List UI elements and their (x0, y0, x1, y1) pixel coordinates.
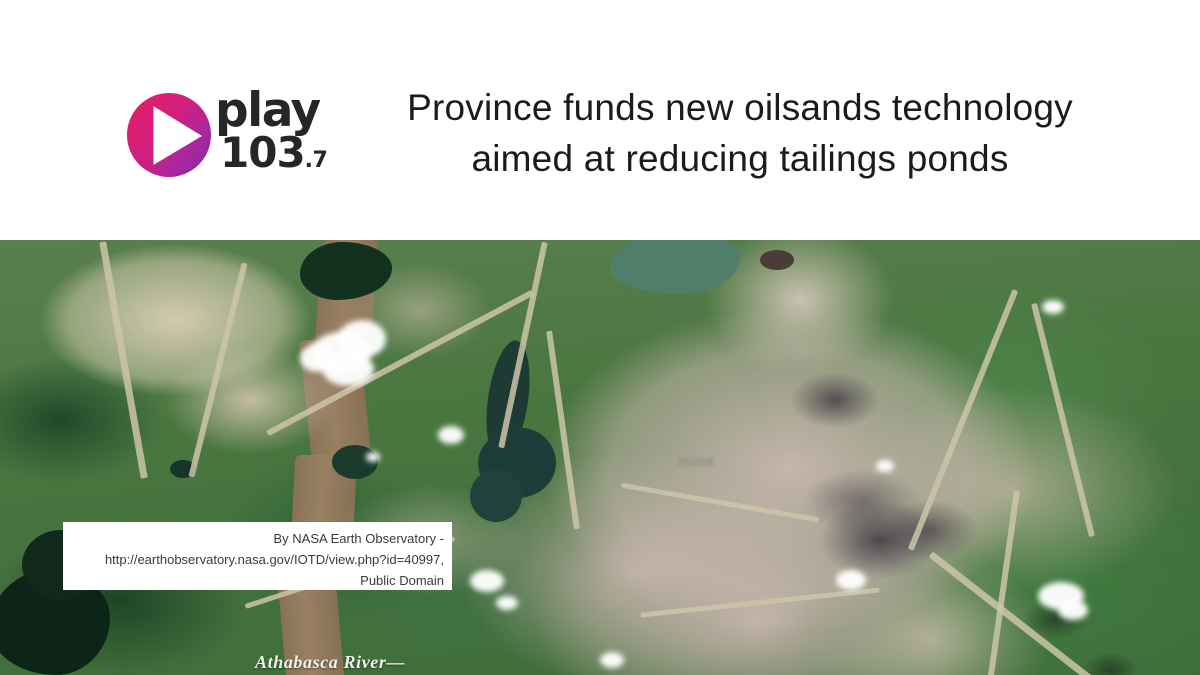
cloud (496, 596, 518, 610)
card-header: play 103.7 Province funds new oilsands t… (0, 0, 1200, 240)
play-circle-icon (125, 91, 213, 179)
cloud (876, 460, 894, 472)
cloud (300, 344, 334, 372)
cloud (1042, 300, 1064, 314)
clouds-layer (0, 240, 1200, 675)
cloud (836, 570, 866, 590)
article-share-card: play 103.7 Province funds new oilsands t… (0, 0, 1200, 675)
caption-line-1: By NASA Earth Observatory - (273, 531, 444, 546)
logo-wordmark: play 103.7 (215, 89, 340, 181)
article-hero-image: mine Athabasca River— By NASA Earth Obse… (0, 240, 1200, 675)
article-headline: Province funds new oilsands technology a… (370, 82, 1110, 184)
cloud (600, 652, 624, 668)
image-attribution-caption: By NASA Earth Observatory - http://earth… (63, 522, 452, 590)
play-1037-logo[interactable]: play 103.7 (125, 85, 340, 185)
map-label-mine: mine (678, 453, 715, 470)
caption-line-3: Domain (399, 573, 444, 588)
map-label-athabasca-river: Athabasca River— (255, 652, 405, 673)
cloud (470, 570, 504, 592)
logo-frequency: 103.7 (220, 130, 327, 184)
cloud (438, 426, 464, 444)
logo-frequency-decimal: .7 (305, 148, 328, 173)
headline-line-2: aimed at reducing tailings ponds (370, 133, 1110, 184)
headline-line-1: Province funds new oilsands technology (407, 87, 1073, 128)
cloud (366, 452, 380, 462)
caption-line-2: http://earthobservatory.nasa.gov/IOTD/vi… (105, 552, 444, 588)
logo-frequency-number: 103 (220, 128, 305, 177)
cloud (1058, 600, 1088, 620)
